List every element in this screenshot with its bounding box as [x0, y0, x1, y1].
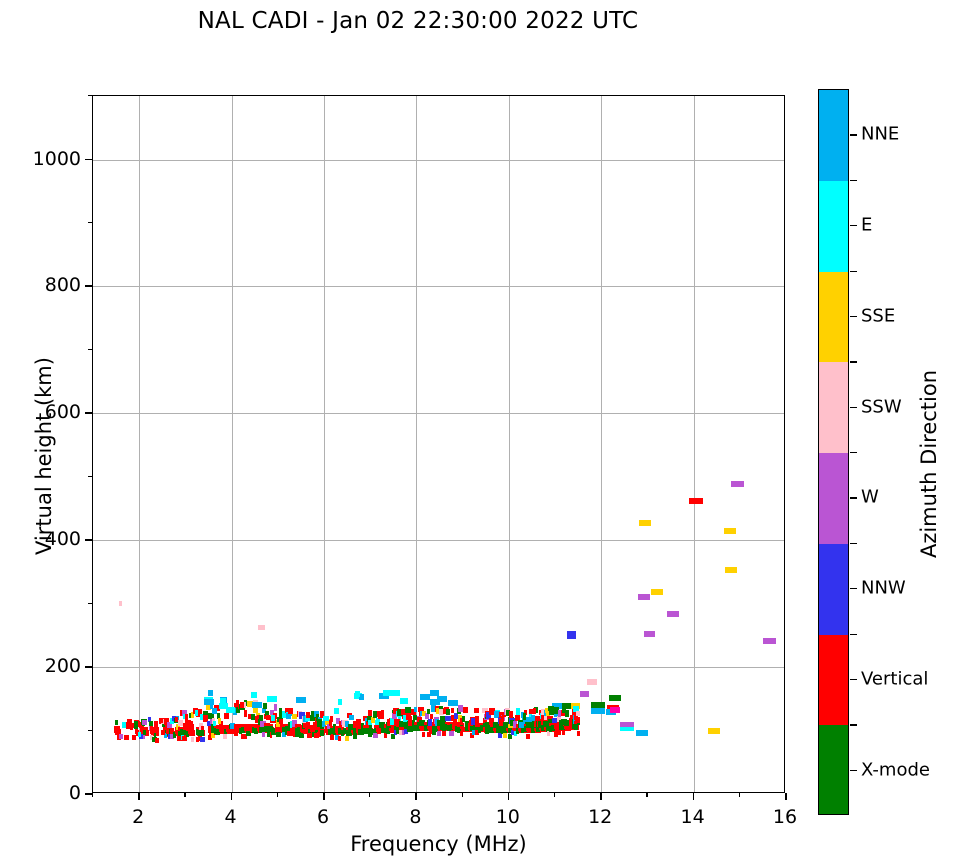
colorbar-label-vertical: Vertical [861, 668, 928, 689]
echo-mark [192, 730, 196, 736]
echo-mark [446, 709, 450, 715]
echo-mark [208, 690, 214, 696]
colorbar-tick [850, 407, 857, 408]
echo-mark [460, 731, 463, 736]
echo-mark [119, 601, 122, 606]
y-tick [85, 539, 92, 541]
echo-mark [338, 736, 341, 741]
x-tick-label: 2 [132, 806, 144, 828]
colorbar-boundary-tick [850, 452, 857, 453]
y-axis-label: Virtual height (km) [32, 316, 56, 596]
echo-mark [639, 520, 651, 526]
x-tick-label: 4 [225, 806, 237, 828]
x-tick-label: 8 [409, 806, 421, 828]
echo-mark [134, 724, 138, 729]
echo-mark [149, 721, 153, 726]
colorbar-tick [850, 134, 857, 135]
echo-mark [667, 611, 679, 617]
echo-mark [451, 708, 455, 713]
y-tick-minor [88, 476, 92, 477]
y-tick-label: 200 [45, 655, 81, 677]
echo-mark [115, 720, 118, 725]
colorbar-label-nne: NNE [861, 124, 899, 145]
colorbar-boundary-tick [850, 634, 857, 635]
echo-mark [130, 725, 133, 730]
echo-mark [638, 594, 650, 600]
echo-mark [349, 715, 354, 720]
echo-mark [503, 733, 507, 738]
echo-mark [252, 702, 262, 708]
echo-mark [689, 498, 703, 504]
echo-mark [442, 731, 447, 736]
echo-mark [523, 713, 526, 720]
colorbar-segment-nne [819, 90, 848, 181]
echo-mark [430, 699, 440, 705]
echo-mark [449, 731, 453, 736]
colorbar-boundary-tick [850, 724, 857, 725]
echo-mark [414, 707, 417, 712]
echo-mark [383, 690, 392, 696]
echo-mark [159, 718, 163, 723]
echo-mark [153, 727, 157, 732]
echo-mark [330, 735, 334, 740]
y-tick [85, 285, 92, 287]
echo-mark [166, 729, 169, 734]
y-tick-minor [88, 349, 92, 350]
x-tick-minor [462, 793, 463, 797]
echo-mark [124, 735, 129, 740]
x-tick [785, 793, 787, 800]
echo-mark [440, 716, 445, 721]
colorbar-segment-nnw [819, 544, 848, 635]
echo-mark [320, 730, 324, 736]
echo-mark [405, 707, 411, 713]
echo-mark [132, 735, 136, 740]
x-axis-label: Frequency (MHz) [92, 832, 785, 856]
echo-mark [251, 692, 257, 698]
echo-mark [567, 631, 576, 639]
echo-mark [244, 710, 247, 717]
x-tick [231, 793, 233, 800]
echo-mark [373, 711, 377, 718]
echo-mark [258, 625, 265, 630]
echo-mark [226, 707, 235, 713]
x-tick-label: 6 [317, 806, 329, 828]
colorbar-tick [850, 679, 857, 680]
echo-mark [223, 734, 227, 739]
echo-mark [445, 716, 451, 721]
echo-mark [267, 696, 277, 702]
echo-mark [355, 691, 360, 697]
chart-title: NAL CADI - Jan 02 22:30:00 2022 UTC [0, 8, 836, 34]
echo-mark [330, 716, 333, 722]
echo-mark [381, 710, 385, 715]
echo-mark [725, 567, 737, 573]
echo-mark [296, 697, 306, 703]
x-tick [323, 793, 325, 800]
y-tick [85, 412, 92, 414]
echo-mark [533, 708, 536, 714]
echo-mark [591, 708, 605, 714]
echo-mark [576, 711, 581, 716]
x-tick [600, 793, 602, 800]
echo-mark [154, 733, 157, 738]
x-tick-minor [554, 793, 555, 797]
echo-mark [475, 716, 478, 723]
y-tick-label: 800 [45, 274, 81, 296]
echo-mark [587, 679, 597, 685]
echo-mark [463, 707, 468, 713]
echo-mark [334, 708, 339, 714]
echo-mark [763, 638, 776, 644]
x-tick-minor [739, 793, 740, 797]
colorbar-tick [850, 588, 857, 589]
echo-mark [644, 631, 655, 637]
echo-mark [731, 481, 744, 487]
x-tick-minor [646, 793, 647, 797]
echo-mark [259, 715, 263, 721]
echo-mark [516, 708, 521, 715]
colorbar-boundary-tick [850, 271, 857, 272]
echo-mark [577, 731, 580, 736]
colorbar-label-sse: SSE [861, 305, 895, 326]
echo-mark [558, 710, 561, 717]
echo-mark [218, 718, 222, 724]
echo-mark [338, 699, 342, 705]
echo-mark [345, 736, 349, 741]
colorbar-segment-x-mode [819, 725, 848, 815]
x-tick-label: 12 [588, 806, 612, 828]
echo-mark [422, 732, 426, 737]
echo-mark [185, 714, 188, 720]
echo-mark [323, 716, 329, 721]
echo-mark [201, 730, 205, 736]
x-tick [138, 793, 140, 800]
echo-mark [212, 708, 217, 714]
y-tick [85, 159, 92, 161]
x-tick-minor [184, 793, 185, 797]
colorbar-label-x-mode: X-mode [861, 759, 930, 780]
echo-mark [609, 695, 621, 701]
x-tick [415, 793, 417, 800]
colorbar-segment-vertical [819, 635, 848, 726]
echo-mark [224, 713, 229, 719]
ionogram-data-layer [93, 96, 784, 792]
y-tick-minor [88, 603, 92, 604]
colorbar-label-ssw: SSW [861, 396, 902, 417]
colorbar-segment-w [819, 453, 848, 544]
echo-mark [636, 730, 648, 736]
y-tick [85, 666, 92, 668]
colorbar-tick [850, 316, 857, 317]
colorbar [818, 89, 849, 815]
x-tick [508, 793, 510, 800]
echo-mark [575, 717, 580, 723]
echo-mark [306, 712, 309, 718]
x-tick-label: 14 [681, 806, 705, 828]
echo-mark [143, 730, 146, 735]
x-tick-minor [369, 793, 370, 797]
colorbar-segment-sse [819, 272, 848, 363]
echo-mark [437, 731, 441, 736]
echo-mark [161, 730, 165, 735]
echo-mark [200, 737, 205, 742]
colorbar-boundary-tick [850, 361, 857, 362]
echo-mark [127, 720, 130, 725]
y-tick-label: 0 [69, 782, 81, 804]
x-tick-minor [92, 793, 93, 797]
colorbar-label-nnw: NNW [861, 578, 906, 599]
echo-mark [708, 728, 720, 734]
echo-mark [299, 733, 304, 738]
echo-mark [191, 737, 194, 742]
echo-mark [430, 690, 440, 696]
echo-mark [263, 703, 267, 709]
x-tick [693, 793, 695, 800]
echo-mark [117, 729, 120, 734]
y-tick-minor [88, 222, 92, 223]
echo-mark [526, 734, 530, 739]
colorbar-segment-ssw [819, 362, 848, 453]
colorbar-title: Azimuth Direction [917, 324, 941, 604]
echo-mark [400, 698, 408, 704]
echo-mark [574, 724, 578, 730]
colorbar-tick [850, 497, 857, 498]
y-tick [85, 793, 92, 795]
colorbar-boundary-tick [850, 543, 857, 544]
echo-mark [146, 730, 150, 736]
echo-mark [531, 715, 535, 721]
echo-mark [191, 724, 194, 731]
echo-mark [274, 704, 278, 711]
colorbar-label-w: W [861, 487, 879, 508]
x-tick-minor [277, 793, 278, 797]
echo-mark [142, 720, 147, 725]
plot-area [92, 95, 785, 793]
echo-mark [138, 732, 141, 737]
echo-mark [220, 698, 226, 704]
y-tick-minor [88, 95, 92, 96]
echo-mark [204, 699, 214, 705]
colorbar-tick [850, 770, 857, 771]
colorbar-tick [850, 225, 857, 226]
echo-mark [155, 738, 159, 743]
echo-mark [288, 708, 293, 714]
x-tick-label: 10 [496, 806, 520, 828]
echo-mark [271, 715, 275, 721]
echo-mark [620, 722, 634, 727]
echo-mark [651, 589, 663, 595]
x-tick-label: 16 [773, 806, 797, 828]
echo-mark [448, 700, 458, 706]
echo-mark [474, 708, 479, 713]
echo-mark [565, 710, 569, 717]
echo-mark [610, 707, 620, 713]
echo-mark [391, 690, 401, 696]
echo-mark [724, 528, 736, 534]
y-tick-label: 1000 [33, 148, 81, 170]
colorbar-segment-e [819, 181, 848, 272]
y-tick-minor [88, 730, 92, 731]
echo-mark [580, 691, 589, 697]
colorbar-boundary-tick [850, 180, 857, 181]
colorbar-label-e: E [861, 215, 872, 236]
echo-mark [119, 734, 124, 739]
